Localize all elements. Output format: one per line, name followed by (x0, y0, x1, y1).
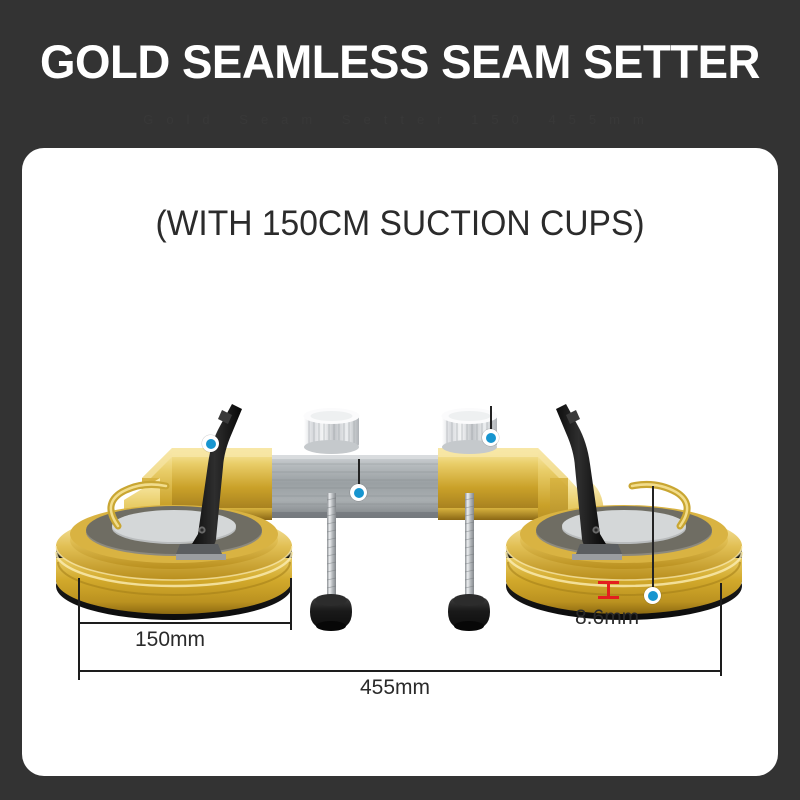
dim-line-150mm (78, 622, 292, 624)
pad-thickness-marker-cap-top (598, 581, 619, 584)
callout-leader-center (358, 459, 360, 485)
dim-extension-right-outer (720, 583, 722, 676)
product-illustration: 8.6mm 150mm 455mm (22, 148, 778, 776)
callout-dot-left-lever (202, 435, 219, 452)
callout-leader-rubber-pad (652, 486, 654, 588)
cup-diameter-label: 150mm (135, 628, 205, 652)
background-watermark-text: Gold Seam Setter 150 455mm (0, 112, 800, 127)
page-title: GOLD SEAMLESS SEAM SETTER (12, 34, 788, 89)
callout-dot-rubber-pad (644, 587, 661, 604)
product-image: GOLD SEAMLESS SEAM SETTER Gold Seam Sett… (0, 0, 800, 800)
right-rubber-foot (448, 594, 490, 631)
product-card: (WITH 150CM SUCTION CUPS) (22, 148, 778, 776)
callout-leader-right-knob (490, 406, 492, 430)
dim-line-455mm (78, 670, 722, 672)
pad-thickness-label: 8.6mm (575, 606, 639, 630)
dim-extension-left-outer (78, 578, 80, 680)
callout-dot-center-bar (350, 484, 367, 501)
pad-thickness-marker-cap-bottom (598, 596, 619, 599)
callout-dot-right-thumbscrew (482, 429, 499, 446)
left-rubber-foot (310, 594, 352, 631)
overall-width-label: 455mm (360, 676, 430, 700)
